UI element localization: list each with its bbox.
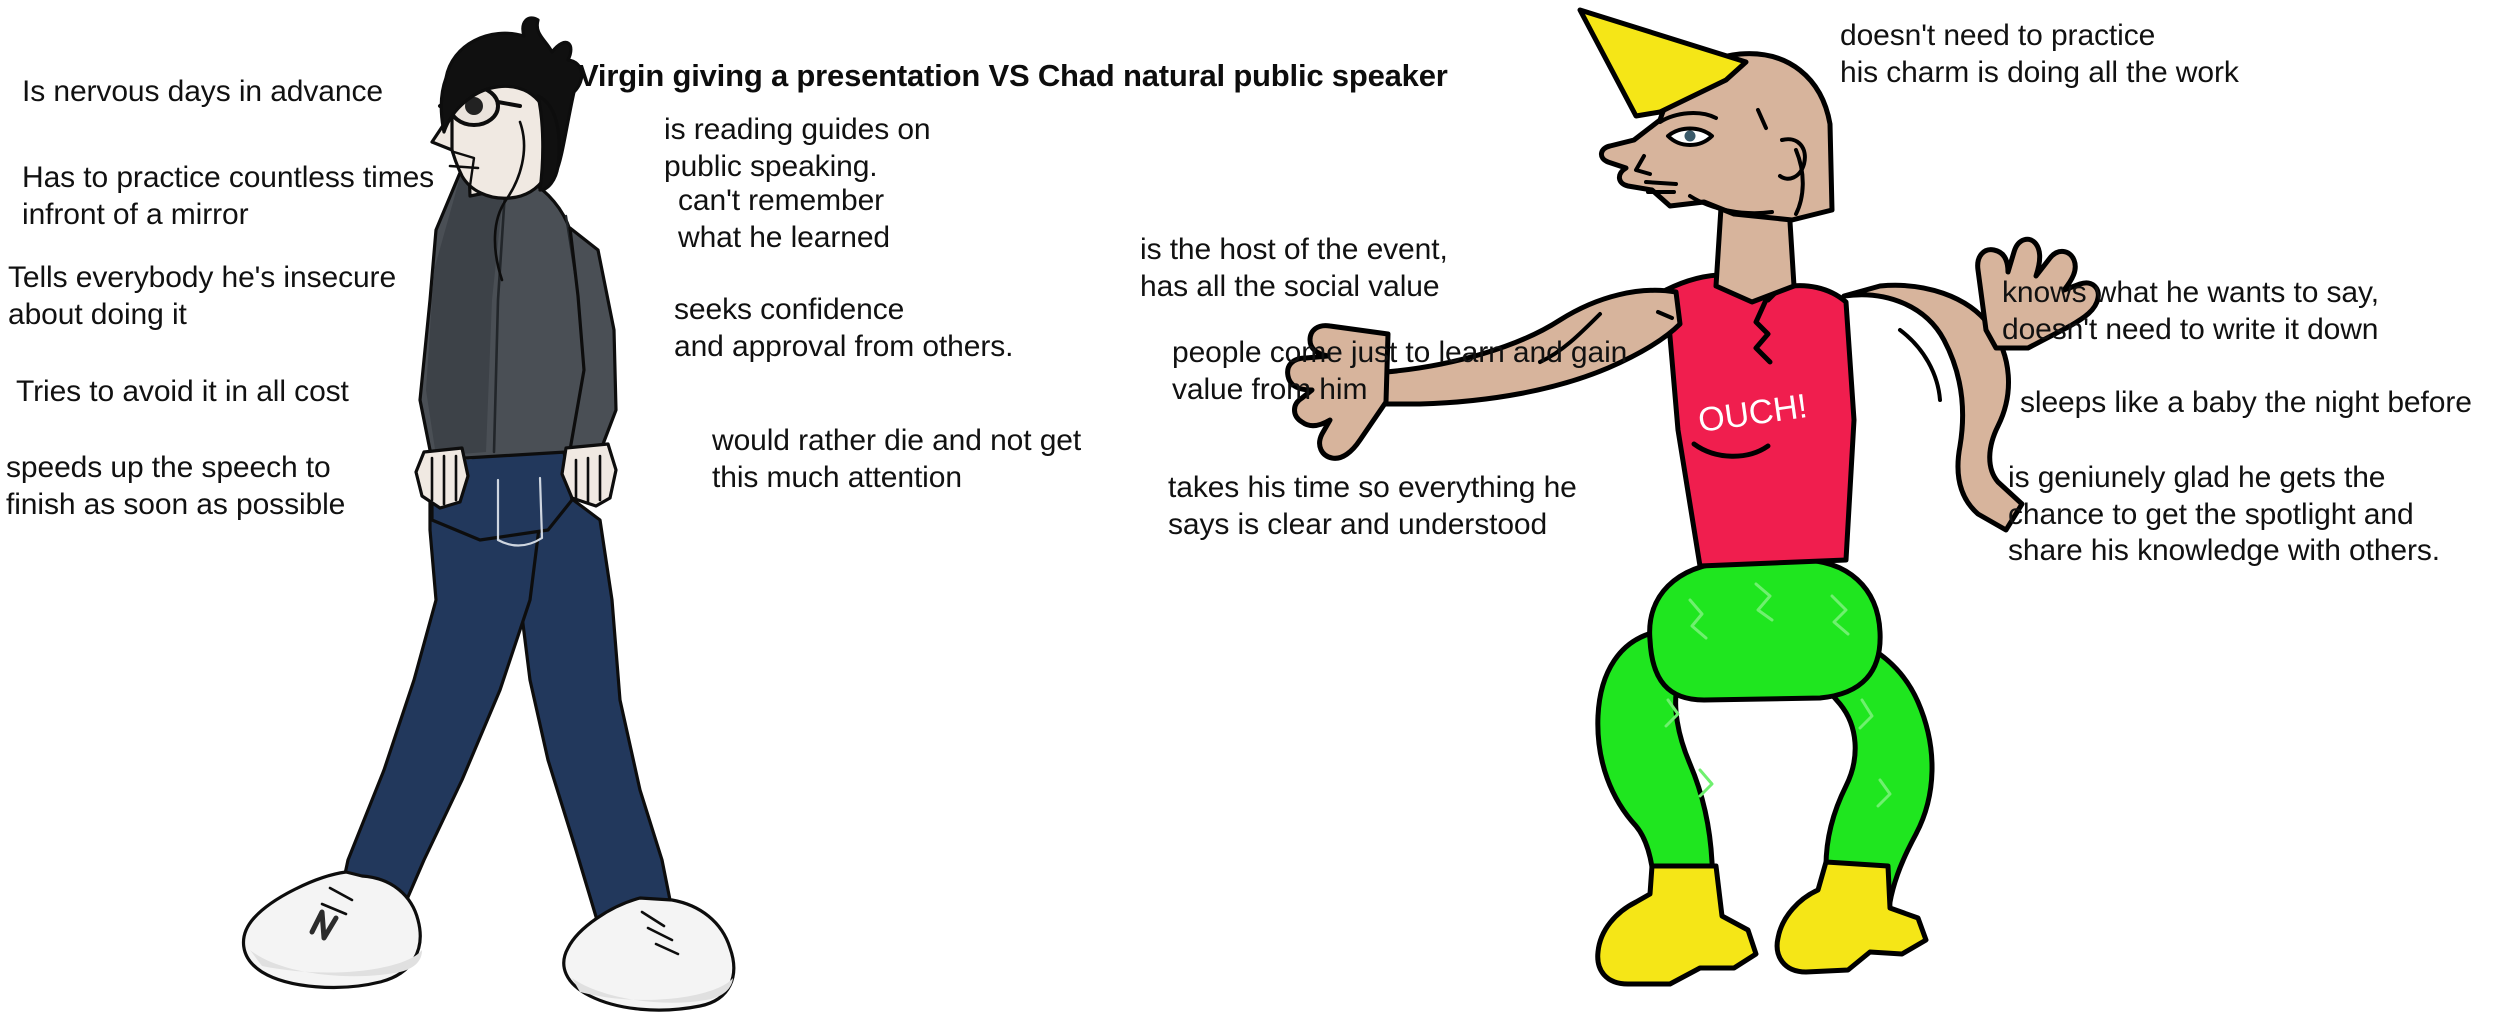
chad-boot-right (1777, 862, 1926, 972)
chad-label-genuinely-glad: is geniunely glad he gets the chance to … (2008, 460, 2440, 570)
meme-canvas: Virgin giving a presentation VS Chad nat… (0, 0, 2518, 1024)
virgin-label-nervous: Is nervous days in advance (22, 74, 383, 111)
virgin-label-insecure: Tells everybody he's insecure about doin… (8, 260, 396, 333)
chad-label-sleeps: sleeps like a baby the night before (2020, 385, 2472, 422)
virgin-label-seeks-confidence: seeks confidence and approval from other… (674, 292, 1013, 365)
chad-label-people-come: people come just to learn and gain value… (1172, 335, 1627, 408)
virgin-label-avoid: Tries to avoid it in all cost (16, 374, 349, 411)
chad-eye-icon (1668, 129, 1712, 146)
chad-arm-right-muscle (1900, 330, 1940, 400)
chad-label-knows-what: knows what he wants to say, doesn't need… (2002, 275, 2379, 348)
virgin-label-rather-die: would rather die and not get this much a… (712, 423, 1081, 496)
virgin-label-speeds-up: speeds up the speech to finish as soon a… (6, 450, 345, 523)
chad-label-host: is the host of the event, has all the so… (1140, 232, 1448, 305)
virgin-label-practice: Has to practice countless times infront … (22, 160, 434, 233)
chad-label-takes-his-time: takes his time so everything he says is … (1168, 470, 1577, 543)
virgin-label-reading-guides: is reading guides on public speaking. (664, 112, 931, 185)
virgin-label-cant-remember: can't remember what he learned (678, 183, 890, 256)
chad-label-no-practice: doesn't need to practice his charm is do… (1840, 18, 2239, 91)
chad-boot-left (1598, 866, 1756, 984)
